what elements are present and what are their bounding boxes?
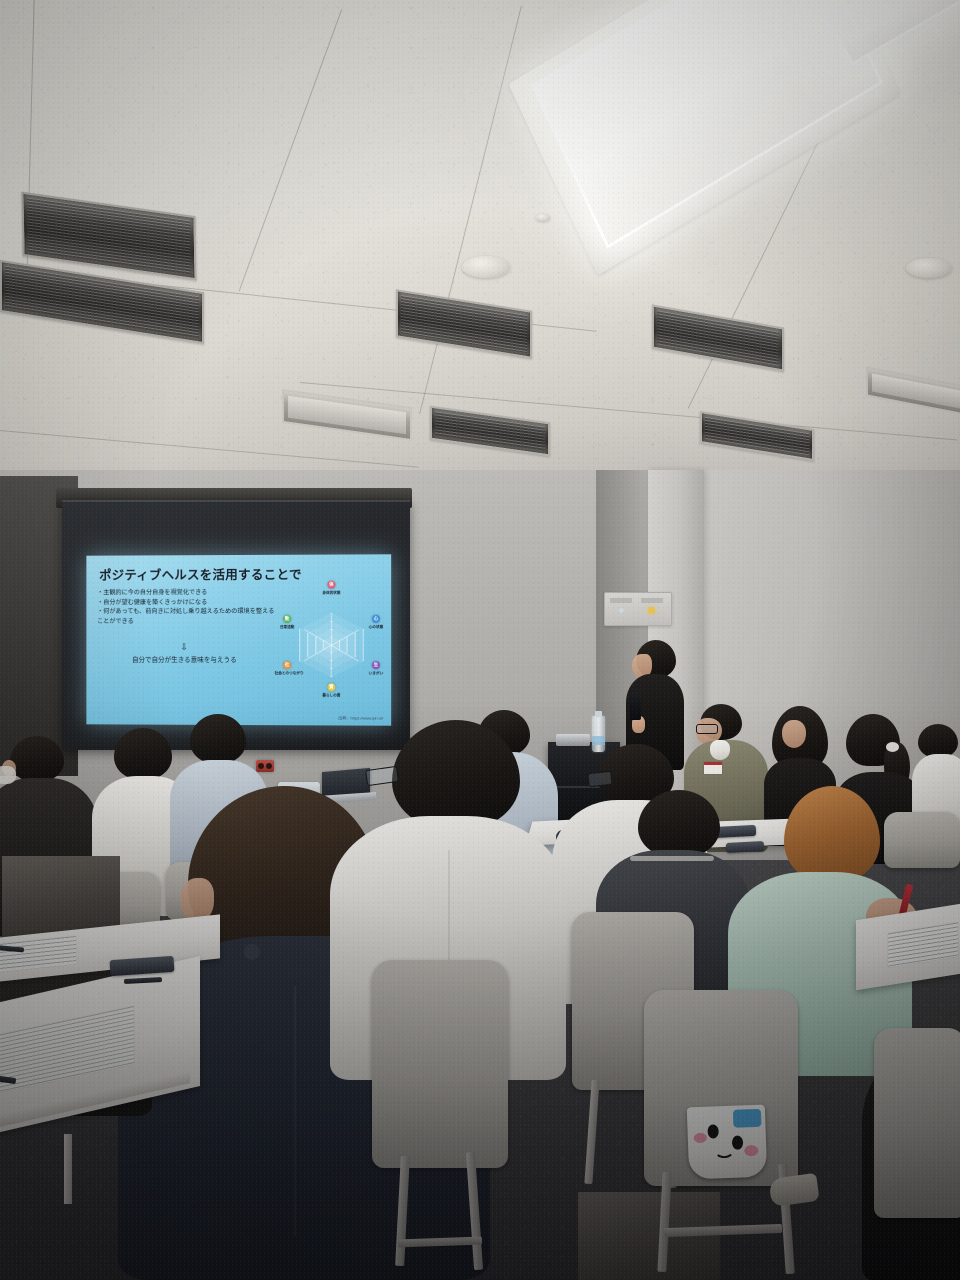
radar-node-icon: 生 xyxy=(374,662,379,668)
attendee-gray-hair-right xyxy=(558,1192,738,1280)
radar-axis xyxy=(331,645,332,676)
collar-detail xyxy=(244,944,260,960)
attendee-hair xyxy=(918,724,958,758)
down-arrow-icon: ⇩ xyxy=(97,643,272,652)
table-leg xyxy=(64,1134,72,1204)
wall-control-panel[interactable] xyxy=(604,592,672,626)
radar-node-icon: 社 xyxy=(285,662,290,668)
glasses-icon xyxy=(696,724,718,734)
radar-label-quality: 暮らしの質 xyxy=(315,693,347,698)
glasses-icon xyxy=(587,771,612,787)
panel-slot xyxy=(641,598,663,603)
tote-mouth-icon xyxy=(714,1142,735,1159)
slide-bullet: ・主観的に今の自分自身を視覚化できる xyxy=(97,588,276,598)
slide-conclusion: 自分で自分が生きる意味を与えうる xyxy=(97,654,272,664)
radar-node-physical: 体 xyxy=(327,581,335,589)
ceiling xyxy=(0,0,960,500)
attendee-hair xyxy=(10,736,64,782)
radar-node-purpose: 生 xyxy=(372,661,380,669)
radar-node-icon: 心 xyxy=(374,616,379,622)
character-tote-bag xyxy=(687,1105,767,1180)
chair xyxy=(874,1028,960,1218)
ceiling-speaker-icon xyxy=(906,258,952,278)
smoke-detector-icon xyxy=(536,214,550,221)
radar-label-purpose: いきがい xyxy=(364,671,388,676)
attendee-face xyxy=(782,720,806,748)
attendee-hair xyxy=(392,720,520,830)
slide-bullet: ・何があっても、前向きに対処し乗り越えるための環境を整えることができる xyxy=(97,607,276,627)
radar-node-mental: 心 xyxy=(372,615,380,623)
radar-node-daily: 動 xyxy=(283,615,291,623)
tote-eye-icon xyxy=(707,1124,718,1138)
radar-axis xyxy=(331,614,332,645)
radar-node-icon: 動 xyxy=(285,616,290,622)
panel-slot xyxy=(610,598,632,603)
radar-label-physical: 身体的状態 xyxy=(315,591,347,596)
microphone-icon xyxy=(630,692,641,720)
radar-node-social: 社 xyxy=(283,661,291,669)
radar-label-mental: 心の状態 xyxy=(364,625,388,630)
bottle-cap-icon xyxy=(595,711,602,717)
radar-node-icon: 体 xyxy=(329,582,334,588)
attendee-collar xyxy=(710,740,730,760)
radar-chart: 体 身体的状態 心 心の状態 生 いきがい 質 暮らしの質 社 社会とのつながり xyxy=(275,578,388,711)
attendee-hair xyxy=(114,728,172,780)
seminar-room-photo: ポジティブヘルスを活用することで ・主観的に今の自分自身を視覚化できる ・自分が… xyxy=(0,0,960,1280)
tote-cheek-icon xyxy=(694,1133,707,1143)
indicator-led-amber xyxy=(648,607,655,614)
face-mask-icon xyxy=(0,766,16,784)
attendee-hair xyxy=(638,790,720,858)
tote-cheek-icon xyxy=(744,1145,758,1156)
radar-label-daily: 日常活動 xyxy=(273,625,301,630)
slide-title: ポジティブヘルスを活用することで xyxy=(99,564,302,584)
radar-node-icon: 質 xyxy=(329,684,334,690)
indicator-led-gray xyxy=(619,608,624,613)
ceiling-speaker-icon xyxy=(462,256,510,278)
screen-edge-highlight xyxy=(62,500,410,502)
slide-bullet-list: ・主観的に今の自分自身を視覚化できる ・自分が望む健康を築くきっかけになる ・何… xyxy=(97,588,276,627)
suit-lapel-seam xyxy=(294,986,296,1236)
chair xyxy=(372,960,508,1168)
attendee-hair xyxy=(578,1192,720,1280)
collar-trim xyxy=(630,856,714,861)
presentation-slide: ポジティブヘルスを活用することで ・主観的に今の自分自身を視覚化できる ・自分が… xyxy=(86,554,391,725)
radar-node-quality: 質 xyxy=(327,683,335,691)
hair-tie-icon xyxy=(886,742,899,752)
radar-label-social: 社会とのつながり xyxy=(269,671,309,676)
attendee-hair xyxy=(190,714,246,764)
attendee-hair xyxy=(784,786,880,882)
tote-blue-patch xyxy=(733,1109,762,1128)
